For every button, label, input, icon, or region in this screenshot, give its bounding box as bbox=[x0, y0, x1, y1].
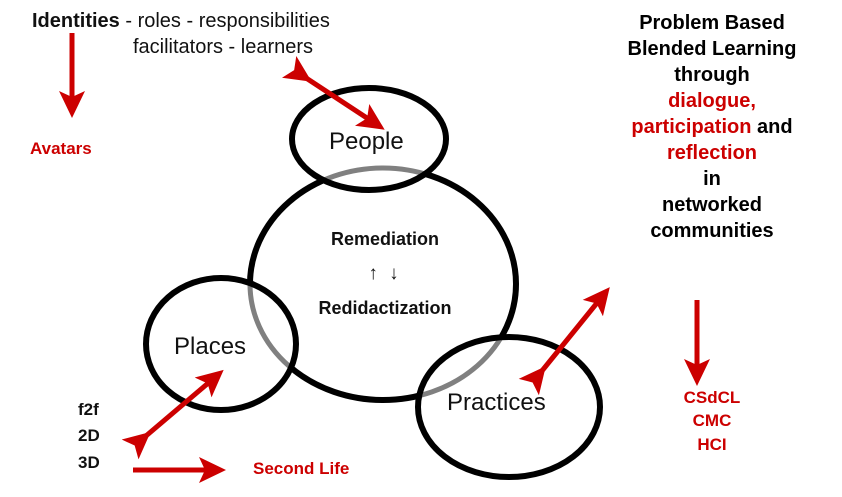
pbbl-line-3: through bbox=[592, 62, 832, 88]
bidirectional-arrows-icon: ↑ ↓ bbox=[266, 264, 504, 283]
pbbl-line-5: participation and bbox=[592, 114, 832, 140]
pbbl-line-8: networked bbox=[592, 192, 832, 218]
identities-heading: Identities - roles - responsibilities fa… bbox=[32, 8, 452, 61]
pbbl-line-4-dialogue: dialogue, bbox=[592, 88, 832, 114]
core-remediation: Remediation bbox=[266, 230, 504, 248]
pbbl-heading: Problem Based Blended Learning through d… bbox=[592, 10, 832, 244]
arrow-practices-double bbox=[537, 298, 601, 377]
pbbl-participation: participation bbox=[631, 116, 751, 138]
pbbl-line-1: Problem Based bbox=[592, 10, 832, 36]
acronym-hci: HCI bbox=[592, 433, 832, 456]
core-redidactization: Redidactization bbox=[266, 299, 504, 317]
identities-bold-word: Identities bbox=[32, 10, 120, 32]
people-label: People bbox=[329, 128, 404, 156]
second-life-label: Second Life bbox=[253, 459, 349, 479]
modality-f2f: f2f bbox=[78, 397, 100, 423]
acronyms-block: CSdCL CMC HCI bbox=[592, 386, 832, 456]
practices-label: Practices bbox=[447, 389, 546, 417]
places-label: Places bbox=[174, 333, 246, 361]
core-circle-text: Remediation ↑ ↓ Redidactization bbox=[266, 230, 504, 317]
arrow-places-double bbox=[140, 379, 213, 441]
avatars-label: Avatars bbox=[30, 139, 92, 159]
identities-line1-rest: - roles - responsibilities bbox=[120, 10, 330, 32]
modality-3d: 3D bbox=[78, 450, 100, 476]
arrow-people-double bbox=[300, 74, 373, 122]
pbbl-and: and bbox=[751, 116, 792, 138]
pbbl-line-7: in bbox=[592, 166, 832, 192]
pbbl-line-9: communities bbox=[592, 218, 832, 244]
pbbl-line-2: Blended Learning bbox=[592, 36, 832, 62]
acronym-cmc: CMC bbox=[592, 409, 832, 432]
diagram-canvas: Identities - roles - responsibilities fa… bbox=[0, 0, 842, 497]
pbbl-line-6-reflection: reflection bbox=[592, 140, 832, 166]
modality-2d: 2D bbox=[78, 423, 100, 449]
modality-stack: f2f 2D 3D bbox=[78, 397, 100, 476]
identities-line2: facilitators - learners bbox=[32, 34, 452, 60]
acronym-csdcl: CSdCL bbox=[592, 386, 832, 409]
